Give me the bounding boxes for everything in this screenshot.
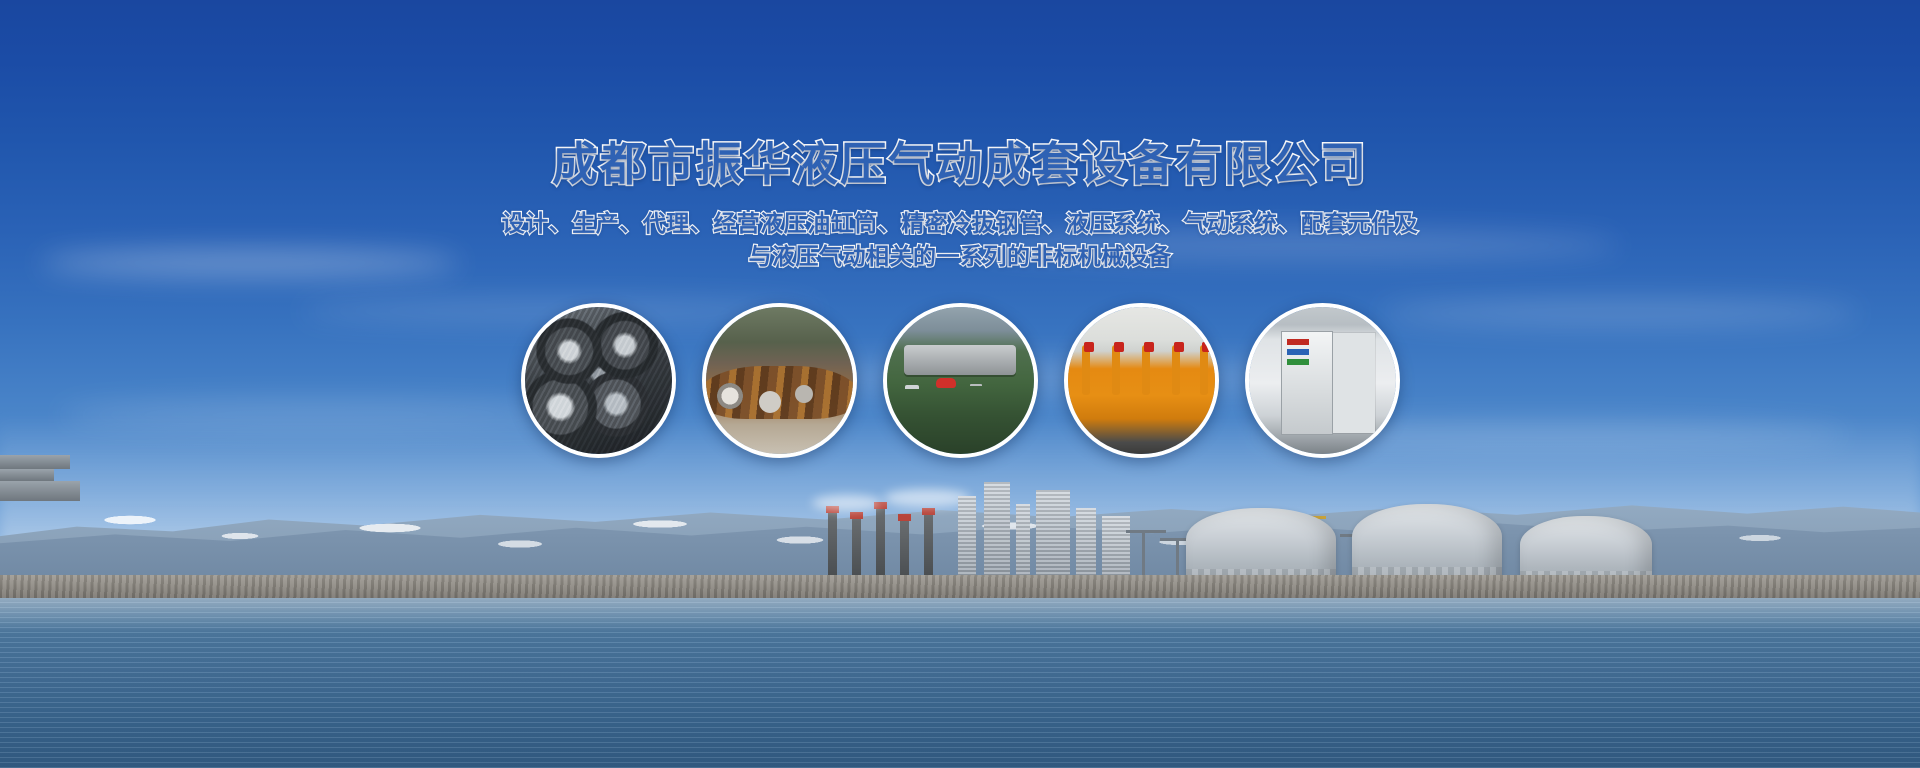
company-tagline: 设计、生产、代理、经营液压油缸筒、精密冷拔钢管、液压系统、气动系统、配套元件及 …	[0, 207, 1920, 272]
control-cabinet-image	[1249, 307, 1396, 454]
orange-machinery-image	[1068, 307, 1215, 454]
cylinder-tubes-image	[525, 307, 672, 454]
steel-pipes-image	[706, 307, 853, 454]
electrical-control-cabinet-photo[interactable]	[1245, 303, 1400, 458]
tagline-line-1: 设计、生产、代理、经营液压油缸筒、精密冷拔钢管、液压系统、气动系统、配套元件及	[0, 207, 1920, 240]
company-title: 成都市振华液压气动成套设备有限公司	[0, 138, 1920, 191]
sea-water	[0, 598, 1920, 768]
cold-drawn-steel-pipes-photo[interactable]	[702, 303, 857, 458]
tagline-line-2: 与液压气动相关的一系列的非标机械设备	[0, 240, 1920, 273]
product-photo-gallery	[0, 303, 1920, 458]
water-glint	[0, 598, 1920, 632]
hydraulic-power-unit-image	[887, 307, 1034, 454]
hydraulic-power-unit-photo[interactable]	[883, 303, 1038, 458]
non-standard-machinery-photo[interactable]	[1064, 303, 1219, 458]
banner-text-block: 成都市振华液压气动成套设备有限公司 设计、生产、代理、经营液压油缸筒、精密冷拔钢…	[0, 138, 1920, 273]
honed-cylinder-tubes-photo[interactable]	[521, 303, 676, 458]
company-hero-banner: 成都市振华液压气动成套设备有限公司 设计、生产、代理、经营液压油缸筒、精密冷拔钢…	[0, 0, 1920, 768]
